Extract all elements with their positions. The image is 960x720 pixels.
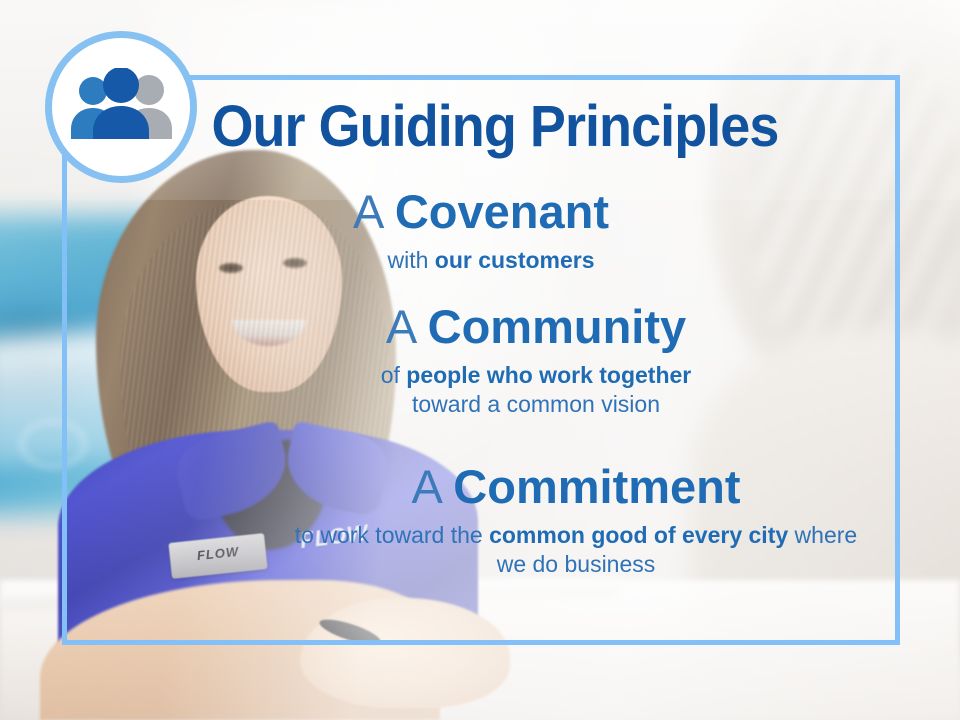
principle-headline-covenant: A Covenant: [62, 188, 890, 237]
subtext-bold: our customers: [435, 247, 595, 273]
principle-keyword: Covenant: [395, 185, 609, 238]
guiding-principles-poster: FLOW FLOW Our Guiding Princ: [0, 0, 960, 720]
subtext-prefix: to work toward the: [295, 522, 489, 548]
principle-keyword: Community: [428, 300, 687, 353]
principle-keyword: Commitment: [453, 460, 740, 513]
principle-headline-commitment: A Commitment: [62, 463, 890, 512]
subtext-suffix: where: [788, 522, 857, 548]
principle-article: A: [386, 300, 428, 353]
subtext-line2: we do business: [497, 551, 656, 577]
principle-subtext-commitment: to work toward the common good of every …: [62, 521, 890, 579]
principle-block-covenant: A Covenant with our customers: [62, 188, 900, 275]
subtext-bold: common good of every city: [489, 522, 788, 548]
principle-subtext-covenant: with our customers: [62, 246, 890, 275]
subtext-prefix: of: [381, 362, 407, 388]
subtext-bold: people who work together: [406, 362, 691, 388]
subtext-prefix: with: [387, 247, 434, 273]
principle-headline-community: A Community: [62, 303, 890, 352]
page-title: Our Guiding Principles: [91, 97, 870, 158]
subtext-line2: toward a common vision: [412, 391, 660, 417]
principle-article: A: [411, 460, 453, 513]
principle-block-community: A Community of people who work together …: [62, 303, 900, 419]
poster-text-content: Our Guiding Principles A Covenant with o…: [62, 75, 900, 645]
principle-block-commitment: A Commitment to work toward the common g…: [62, 463, 900, 579]
principle-article: A: [353, 185, 395, 238]
principle-subtext-community: of people who work together toward a com…: [62, 361, 890, 419]
